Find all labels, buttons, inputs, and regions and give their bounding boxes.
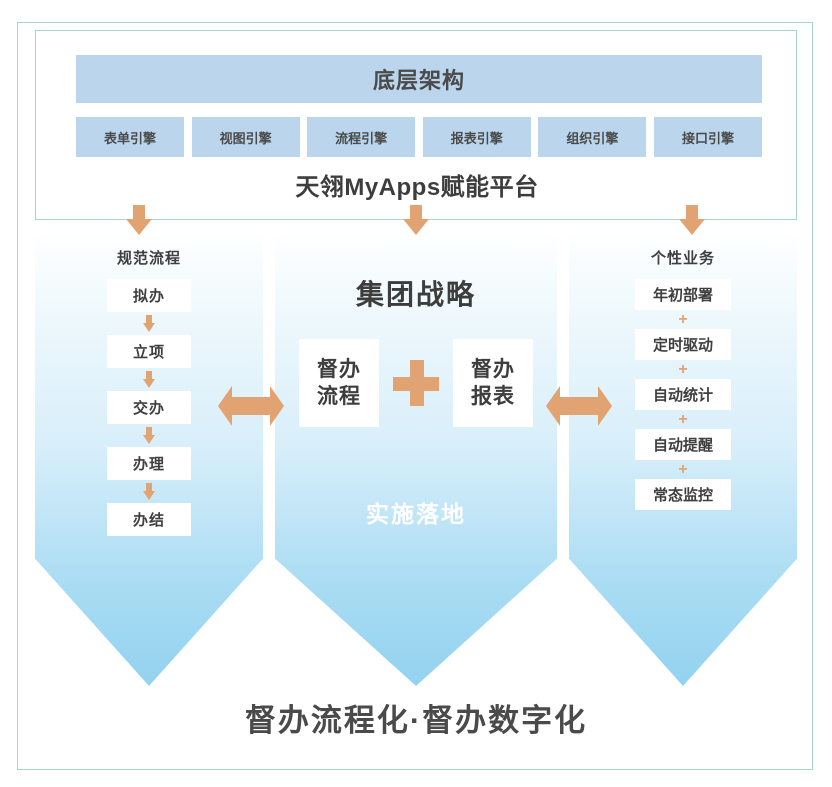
engine-row: 表单引擎 视图引擎 流程引擎 报表引擎 组织引擎 接口引擎 xyxy=(76,117,762,157)
architecture-bar-label: 底层架构 xyxy=(373,63,465,95)
center-box-line1: 督办 xyxy=(471,356,515,383)
engine-box-organization: 组织引擎 xyxy=(538,117,646,157)
business-item-box: 自动统计 xyxy=(635,379,731,410)
step-label: 拟办 xyxy=(133,285,165,306)
center-column-title: 集团战略 xyxy=(275,273,557,313)
step-box: 办理 xyxy=(107,447,191,480)
engine-label: 报表引擎 xyxy=(451,128,503,147)
plus-separator-icon: + xyxy=(678,462,687,477)
plus-separator-icon: + xyxy=(678,312,687,327)
center-box-line1: 督办 xyxy=(317,356,361,383)
diagram-canvas: 底层架构 表单引擎 视图引擎 流程引擎 报表引擎 组织引擎 接口引擎 天翎MyA… xyxy=(0,0,832,787)
right-column-header: 个性业务 xyxy=(569,247,797,268)
down-arrow-icon xyxy=(141,371,157,388)
step-label: 办结 xyxy=(133,509,165,530)
engine-label: 组织引擎 xyxy=(566,128,618,147)
down-arrow-icon xyxy=(141,483,157,500)
business-item-label: 自动统计 xyxy=(653,384,713,405)
engine-box-report: 报表引擎 xyxy=(423,117,531,157)
engine-label: 视图引擎 xyxy=(220,128,272,147)
center-box-supervision-process: 督办 流程 xyxy=(299,339,379,427)
plus-icon xyxy=(393,360,439,406)
plus-separator-icon: + xyxy=(678,412,687,427)
double-arrow-icon-right xyxy=(546,386,612,426)
center-column-subtitle: 实施落地 xyxy=(275,495,557,529)
left-column-header: 规范流程 xyxy=(35,247,263,268)
down-arrow-icon xyxy=(141,315,157,332)
step-box: 拟办 xyxy=(107,279,191,312)
engine-box-form: 表单引擎 xyxy=(76,117,184,157)
down-arrow-icon-right xyxy=(679,205,705,235)
engine-label: 表单引擎 xyxy=(104,128,156,147)
engine-label: 接口引擎 xyxy=(682,128,734,147)
business-item-label: 常态监控 xyxy=(653,484,713,505)
engine-label: 流程引擎 xyxy=(335,128,387,147)
business-item-box: 自动提醒 xyxy=(635,429,731,460)
platform-panel: 底层架构 表单引擎 视图引擎 流程引擎 报表引擎 组织引擎 接口引擎 天翎MyA… xyxy=(35,30,797,220)
engine-box-view: 视图引擎 xyxy=(192,117,300,157)
business-item-box: 定时驱动 xyxy=(635,329,731,360)
plus-separator-icon: + xyxy=(678,362,687,377)
down-arrow-icon-center xyxy=(403,205,429,235)
engine-box-process: 流程引擎 xyxy=(307,117,415,157)
center-box-pair: 督办 流程 督办 报表 xyxy=(275,339,557,427)
center-box-supervision-report: 督办 报表 xyxy=(453,339,533,427)
platform-title: 天翎MyApps赋能平台 xyxy=(36,167,798,202)
business-item-label: 定时驱动 xyxy=(653,334,713,355)
business-item-label: 自动提醒 xyxy=(653,434,713,455)
center-box-line2: 报表 xyxy=(471,383,515,410)
step-label: 办理 xyxy=(133,453,165,474)
step-box: 立项 xyxy=(107,335,191,368)
engine-box-interface: 接口引擎 xyxy=(654,117,762,157)
bottom-caption: 督办流程化·督办数字化 xyxy=(35,695,797,740)
step-label: 交办 xyxy=(133,397,165,418)
step-label: 立项 xyxy=(133,341,165,362)
business-item-box: 常态监控 xyxy=(635,479,731,510)
architecture-bar: 底层架构 xyxy=(76,55,762,103)
center-box-line2: 流程 xyxy=(317,383,361,410)
down-arrow-icon xyxy=(141,427,157,444)
step-box: 交办 xyxy=(107,391,191,424)
business-item-box: 年初部署 xyxy=(635,279,731,310)
double-arrow-icon-left xyxy=(218,386,284,426)
business-item-label: 年初部署 xyxy=(653,284,713,305)
step-box: 办结 xyxy=(107,503,191,536)
down-arrow-icon-left xyxy=(126,205,152,235)
